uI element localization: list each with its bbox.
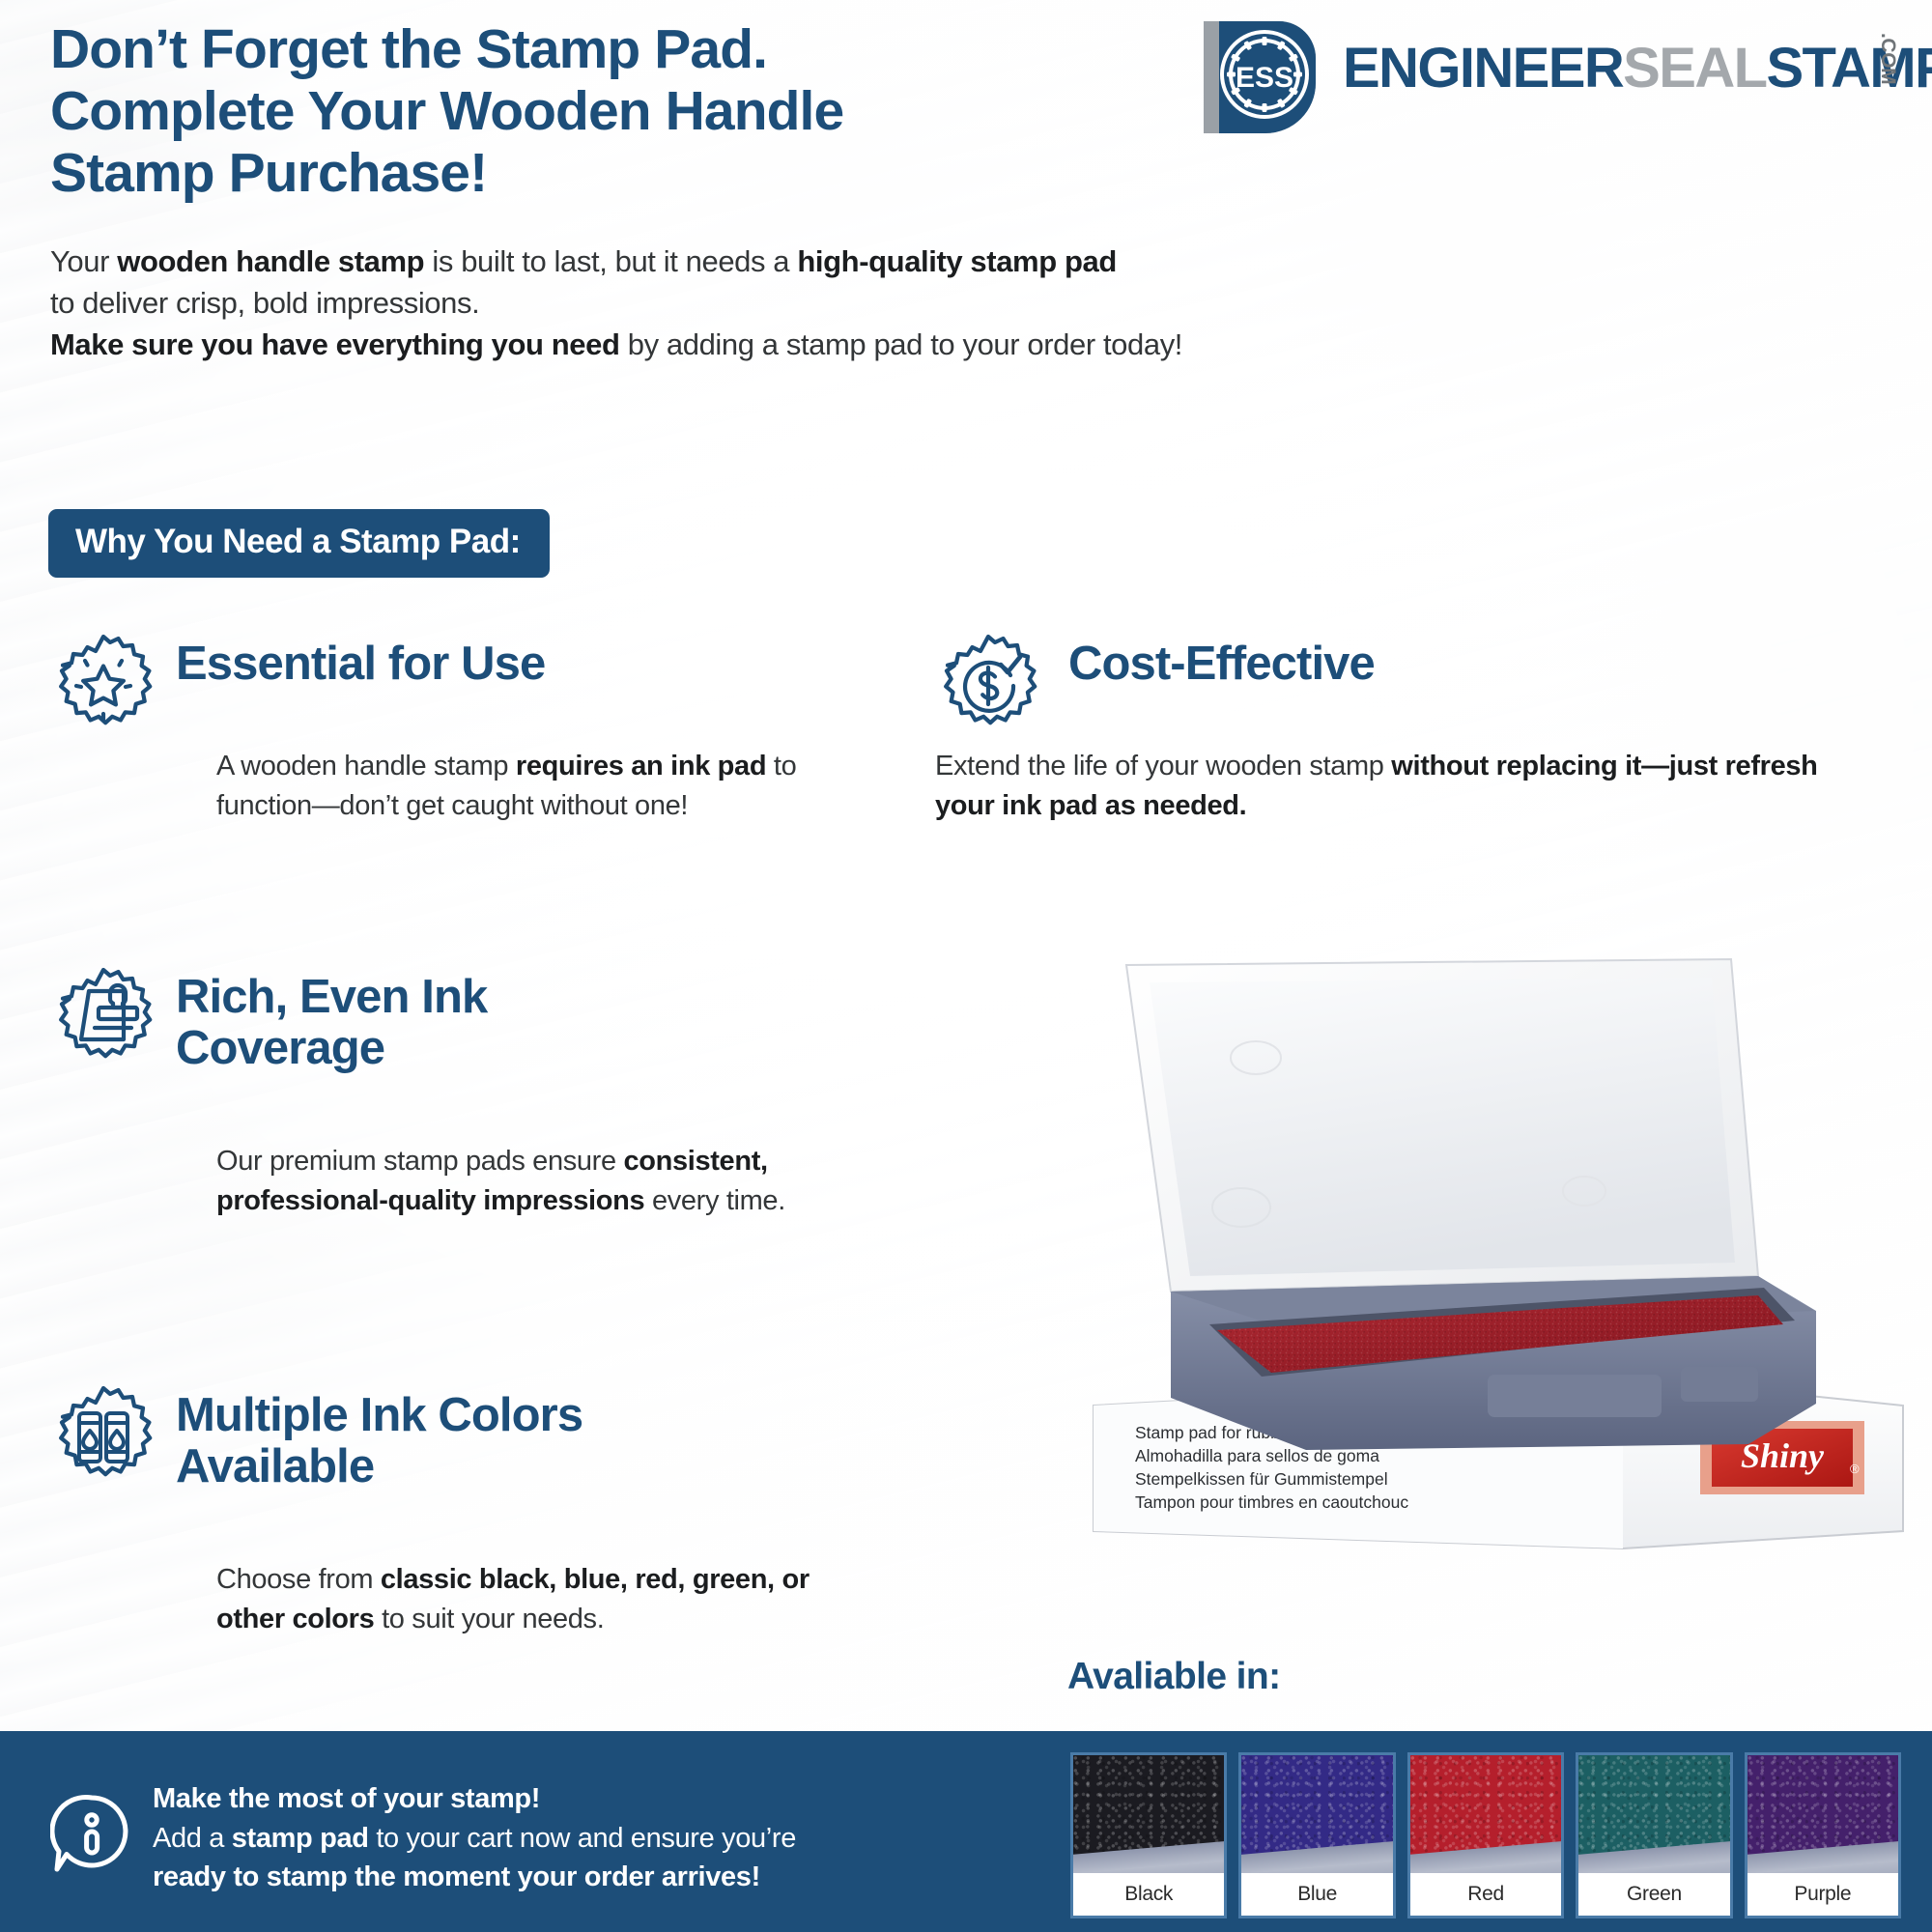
swatch-label: Black [1073,1873,1224,1916]
footer-line-1: Make the most of your stamp! [153,1779,1051,1819]
feature-body: Choose from classic black, blue, red, gr… [216,1560,883,1639]
info-bubble-icon [50,1792,133,1875]
ink-bottles-badge-icon [50,1384,156,1491]
available-in-heading: Avaliable in: [1067,1656,1281,1698]
logo-word-engineer: ENGINEER [1343,37,1623,99]
swatch-label: Purple [1747,1873,1898,1916]
stamp-pad-product-photo: Stamp pad for rubber stamps Almohadilla … [1082,952,1913,1550]
page-title: Don’t Forget the Stamp Pad. Complete You… [50,19,1238,204]
why-stamp-pad-banner: Why You Need a Stamp Pad: [48,509,550,578]
swatch-purple[interactable]: Purple [1745,1752,1901,1918]
logo-wordmark: ENGINEERSEALSTAMPS [1343,41,1932,97]
infographic-page: Don’t Forget the Stamp Pad. Complete You… [0,0,1932,1932]
swatch-blue[interactable]: Blue [1238,1752,1395,1918]
logo-monogram-text: ESS [1236,62,1293,94]
ink-color-swatch-strip: Black Blue Red Green Purple [1070,1752,1901,1918]
swatch-red[interactable]: Red [1407,1752,1564,1918]
page-title-line-2: Complete Your Wooden Handle [50,81,1238,143]
footer-line-2: Add a stamp pad to your cart now and ens… [153,1819,1051,1859]
star-badge-icon [50,633,156,739]
feature-title: Essential for Use [176,639,545,690]
intro-line-3: Make sure you have everything you need b… [50,325,1403,366]
feature-body: A wooden handle stamp requires an ink pa… [216,747,835,826]
stamp-pad-lid [1126,959,1758,1292]
swatch-green[interactable]: Green [1576,1752,1732,1918]
ess-shield-gear-icon: ESS [1196,15,1321,133]
dollar-check-badge-icon [935,633,1041,739]
feature-title: Multiple Ink ColorsAvailable [176,1390,582,1492]
brand-logo[interactable]: ESS ENGINEERSEALSTAMPS [1196,14,1920,133]
feature-title: Cost-Effective [1068,639,1375,690]
box-line-3: Stempelkissen für Gummistempel [1135,1469,1388,1489]
box-line-4: Tampon pour timbres en caoutchouc [1135,1492,1408,1512]
swatch-black[interactable]: Black [1070,1752,1227,1918]
logo-tld: .COM [1876,33,1899,84]
intro-paragraph: Your wooden handle stamp is built to las… [50,241,1403,365]
page-title-line-1: Don’t Forget the Stamp Pad. [50,19,1238,81]
intro-line-1: Your wooden handle stamp is built to las… [50,241,1403,283]
shiny-brand-text: Shiny [1741,1436,1825,1475]
swatch-label: Blue [1241,1873,1392,1916]
swatch-chip [1241,1755,1392,1873]
swatch-chip [1410,1755,1561,1873]
intro-line-2: to deliver crisp, bold impressions. [50,283,1403,325]
shiny-registered-mark: ® [1850,1462,1860,1476]
swatch-chip [1073,1755,1224,1873]
stamp-badge-icon [50,966,156,1072]
feature-body: Extend the life of your wooden stamp wit… [935,747,1862,826]
swatch-label: Red [1410,1873,1561,1916]
logo-word-seal: SEAL [1623,37,1766,99]
feature-title: Rich, Even InkCoverage [176,972,487,1074]
footer-line-3: ready to stamp the moment your order arr… [153,1858,1051,1897]
swatch-chip [1578,1755,1729,1873]
logo-word-stamps: STAMPS [1766,37,1932,99]
swatch-chip [1747,1755,1898,1873]
feature-body: Our premium stamp pads ensure consistent… [216,1142,835,1221]
footer-cta-text: Make the most of your stamp! Add a stamp… [153,1779,1051,1897]
page-title-line-3: Stamp Purchase! [50,143,1238,205]
swatch-label: Green [1578,1873,1729,1916]
